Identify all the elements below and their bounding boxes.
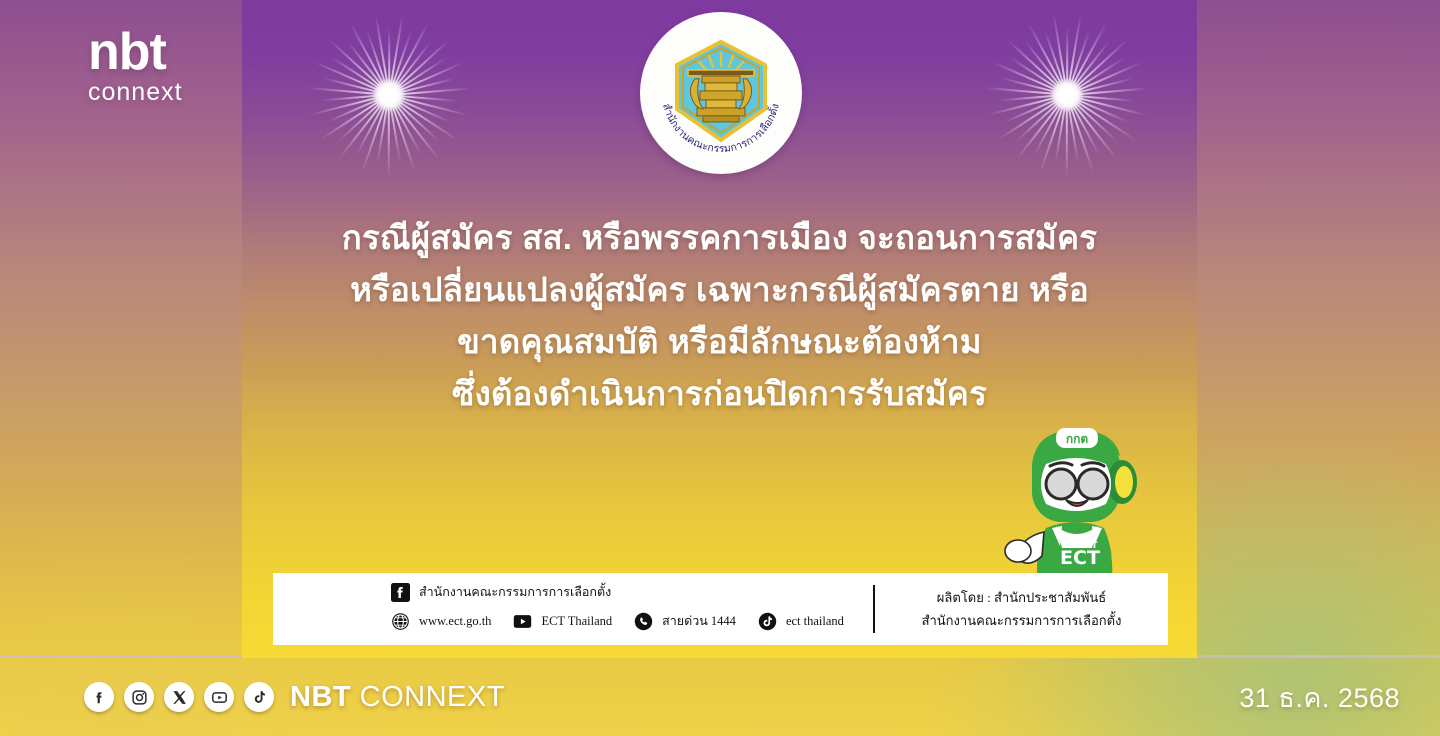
brand-light: CONNEXT xyxy=(360,681,505,713)
globe-icon xyxy=(391,612,410,631)
nbt-logo-primary: nbt xyxy=(88,26,238,78)
facebook-contact-item[interactable]: สำนักงานคณะกรรมการการเลือกตั้ง xyxy=(391,582,611,602)
tiktok-icon xyxy=(758,612,777,631)
ect-seal-crest xyxy=(669,39,773,143)
producer-line-2: สำนักงานคณะกรรมการการเลือกตั้ง xyxy=(922,610,1122,631)
nbt-logo-secondary: connext xyxy=(88,78,238,106)
youtube-icon[interactable] xyxy=(204,682,234,712)
x-twitter-icon[interactable] xyxy=(164,682,194,712)
publication-date: 31 ธ.ค. 2568 xyxy=(1239,676,1400,719)
smart-ect-mascot: กกต SMART ECT xyxy=(994,412,1160,584)
nbt-connext-logo: nbt connext xyxy=(88,26,238,116)
facebook-icon[interactable] xyxy=(84,682,114,712)
producer-line-1: ผลิตโดย : สำนักประชาสัมพันธ์ xyxy=(937,587,1106,608)
youtube-contact-label: ECT Thailand xyxy=(541,614,612,629)
starburst-decoration-left xyxy=(304,10,474,180)
social-links-row xyxy=(84,682,274,712)
hotline-contact-label: สายด่วน 1444 xyxy=(662,611,736,631)
announcement-headline: กรณีผู้สมัคร สส. หรือพรรคการเมือง จะถอนก… xyxy=(242,212,1197,420)
bottom-branding-bar: NBT CONNEXT 31 ธ.ค. 2568 xyxy=(0,658,1440,736)
website-contact-label: www.ect.go.th xyxy=(419,614,491,629)
contact-channels: สำนักงานคณะกรรมการการเลือกตั้ง xyxy=(273,573,873,645)
ect-seal-emblem: สำนักงานคณะกรรมการการเลือกตั้ง xyxy=(640,12,802,174)
phone-icon xyxy=(634,612,653,631)
headline-line-3: ขาดคุณสมบัติ หรือมีลักษณะต้องห้าม xyxy=(282,316,1157,368)
producer-credit: ผลิตโดย : สำนักประชาสัมพันธ์ สำนักงานคณะ… xyxy=(875,573,1168,645)
facebook-icon xyxy=(391,583,410,602)
contact-row-1: สำนักงานคณะกรรมการการเลือกตั้ง xyxy=(391,582,873,602)
youtube-icon xyxy=(513,612,532,631)
starburst-decoration-right xyxy=(982,10,1152,180)
headline-line-2: หรือเปลี่ยนแปลงผู้สมัคร เฉพาะกรณีผู้สมัค… xyxy=(282,264,1157,316)
tiktok-contact-item[interactable]: ect thailand xyxy=(758,612,844,631)
youtube-contact-item[interactable]: ECT Thailand xyxy=(513,612,612,631)
contact-row-2: www.ect.go.th ECT Thailand xyxy=(391,611,873,631)
announcement-card: สำนักงานคณะกรรมการการเลือกตั้ง xyxy=(242,0,1197,658)
tiktok-icon[interactable] xyxy=(244,682,274,712)
svg-text:กกต: กกต xyxy=(1066,432,1089,446)
hotline-contact-item[interactable]: สายด่วน 1444 xyxy=(634,611,736,631)
headline-line-1: กรณีผู้สมัคร สส. หรือพรรคการเมือง จะถอนก… xyxy=(282,212,1157,264)
brand-bold: NBT xyxy=(290,681,351,713)
nbt-connext-wordmark: NBT CONNEXT xyxy=(290,681,505,714)
facebook-contact-label: สำนักงานคณะกรรมการการเลือกตั้ง xyxy=(419,582,611,602)
tiktok-contact-label: ect thailand xyxy=(786,614,844,629)
website-contact-item[interactable]: www.ect.go.th xyxy=(391,612,491,631)
svg-text:ECT: ECT xyxy=(1060,547,1100,569)
instagram-icon[interactable] xyxy=(124,682,154,712)
contact-info-strip: สำนักงานคณะกรรมการการเลือกตั้ง xyxy=(273,573,1168,645)
